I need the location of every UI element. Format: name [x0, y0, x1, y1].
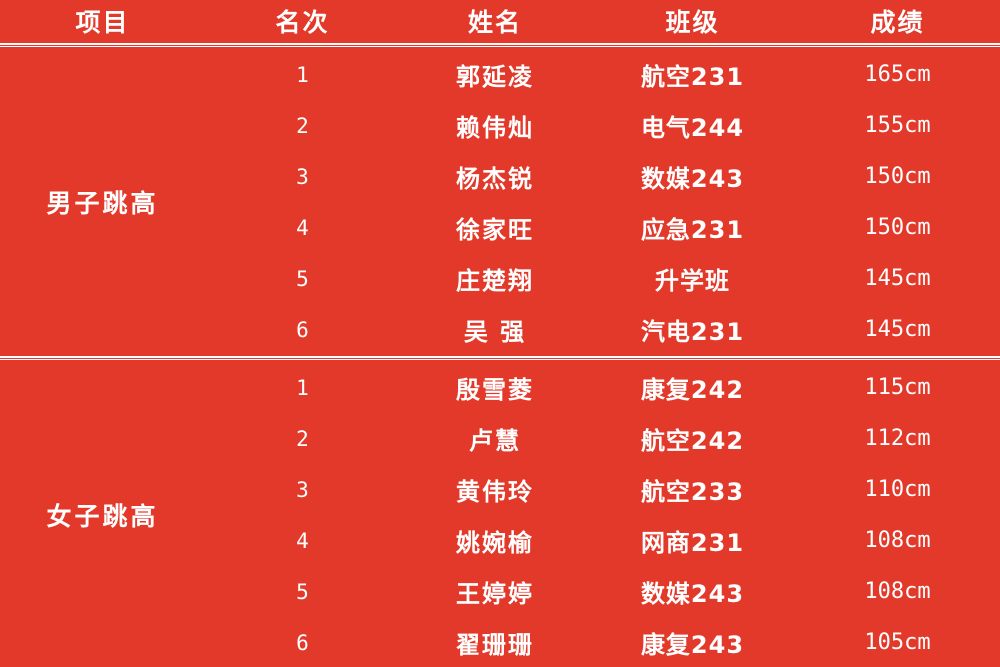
- class-name-cell: 数媒243: [590, 151, 795, 202]
- athlete-name-cell: 姚婉榆: [400, 515, 590, 566]
- rank-cell-value: 5: [205, 566, 400, 617]
- rank-cell-value: 6: [205, 617, 400, 667]
- rank-cell-value: 4: [205, 202, 400, 253]
- athlete-name-cell: 黄伟玲: [400, 464, 590, 515]
- column-header-result: 成绩: [795, 0, 1000, 42]
- rank-cell-value: 3: [205, 151, 400, 202]
- result-value-cell: 165cm: [795, 49, 1000, 100]
- result-value-cell: 150cm: [795, 202, 1000, 253]
- table-header: 项目 名次 姓名 班级 成绩: [0, 0, 1000, 42]
- header-row: 项目 名次 姓名 班级 成绩: [0, 0, 1000, 42]
- athlete-name-cell: 庄楚翔: [400, 253, 590, 304]
- athlete-name-cell: 赖伟灿: [400, 100, 590, 151]
- result-value-cell: 145cm: [795, 304, 1000, 355]
- header-divider: [0, 42, 1000, 49]
- section-divider: [0, 355, 1000, 362]
- rank-cell-value: 1: [205, 362, 400, 413]
- class-name-cell: 电气244: [590, 100, 795, 151]
- class-name-cell: 康复243: [590, 617, 795, 667]
- class-name-cell: 网商231: [590, 515, 795, 566]
- section-divider-line: [0, 42, 1000, 49]
- column-header-event: 项目: [0, 0, 205, 42]
- rank-cell-value: 3: [205, 464, 400, 515]
- rank-cell-value: 1: [205, 49, 400, 100]
- class-name-cell: 航空231: [590, 49, 795, 100]
- class-name-cell: 航空242: [590, 413, 795, 464]
- class-name-cell: 康复242: [590, 362, 795, 413]
- result-value-cell: 115cm: [795, 362, 1000, 413]
- athlete-name-cell: 王婷婷: [400, 566, 590, 617]
- result-value-cell: 108cm: [795, 566, 1000, 617]
- rank-cell-value: 6: [205, 304, 400, 355]
- result-value-cell: 110cm: [795, 464, 1000, 515]
- class-name-cell: 升学班: [590, 253, 795, 304]
- result-value-cell: 112cm: [795, 413, 1000, 464]
- result-value-cell: 155cm: [795, 100, 1000, 151]
- table-row: 女子跳高1殷雪菱康复242115cm: [0, 362, 1000, 413]
- athlete-name-cell: 郭延凌: [400, 49, 590, 100]
- class-name-cell: 汽电231: [590, 304, 795, 355]
- column-header-name: 姓名: [400, 0, 590, 42]
- column-header-rank: 名次: [205, 0, 400, 42]
- results-table: 项目 名次 姓名 班级 成绩 男子跳高1郭延凌航空231165cm2赖伟灿电气2…: [0, 0, 1000, 667]
- class-name-cell: 应急231: [590, 202, 795, 253]
- table-body: 男子跳高1郭延凌航空231165cm2赖伟灿电气244155cm3杨杰锐数媒24…: [0, 42, 1000, 667]
- rank-cell-value: 2: [205, 413, 400, 464]
- table-row: 男子跳高1郭延凌航空231165cm: [0, 49, 1000, 100]
- result-value-cell: 150cm: [795, 151, 1000, 202]
- athlete-name-cell: 卢慧: [400, 413, 590, 464]
- result-value-cell: 108cm: [795, 515, 1000, 566]
- class-name-cell: 航空233: [590, 464, 795, 515]
- rank-cell-value: 4: [205, 515, 400, 566]
- event-name-cell: 男子跳高: [0, 49, 205, 355]
- results-table-page: 项目 名次 姓名 班级 成绩 男子跳高1郭延凌航空231165cm2赖伟灿电气2…: [0, 0, 1000, 667]
- athlete-name-cell: 杨杰锐: [400, 151, 590, 202]
- athlete-name-cell: 徐家旺: [400, 202, 590, 253]
- result-value-cell: 105cm: [795, 617, 1000, 667]
- athlete-name-cell: 殷雪菱: [400, 362, 590, 413]
- section-divider-line: [0, 355, 1000, 362]
- athlete-name-cell: 吴 强: [400, 304, 590, 355]
- event-name-cell: 女子跳高: [0, 362, 205, 667]
- column-header-class: 班级: [590, 0, 795, 42]
- rank-cell-value: 5: [205, 253, 400, 304]
- athlete-name-cell: 翟珊珊: [400, 617, 590, 667]
- rank-cell-value: 2: [205, 100, 400, 151]
- result-value-cell: 145cm: [795, 253, 1000, 304]
- class-name-cell: 数媒243: [590, 566, 795, 617]
